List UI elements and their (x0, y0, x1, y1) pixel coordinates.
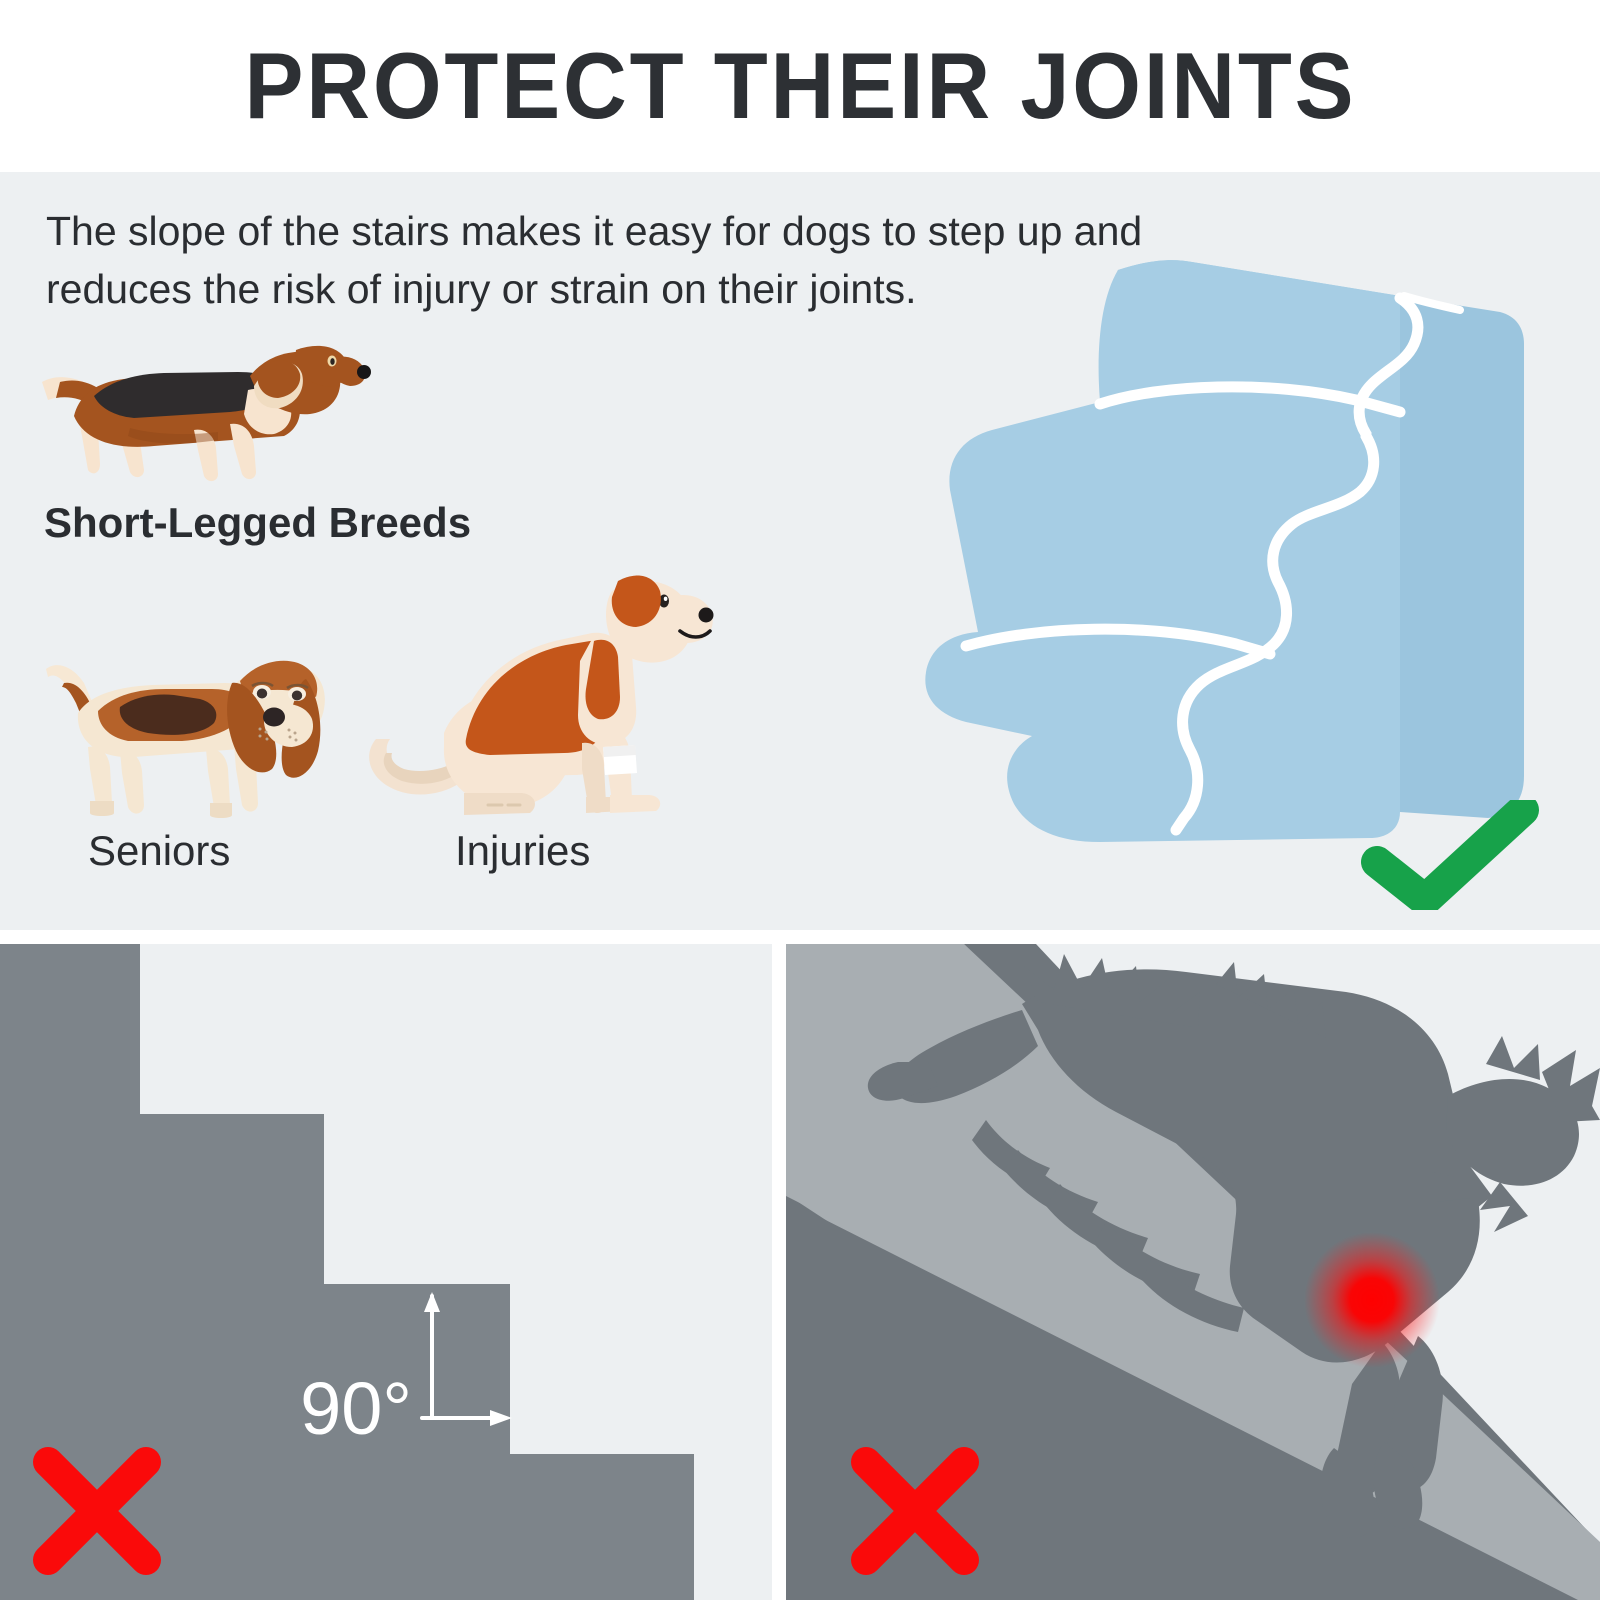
dog-label-injuries: Injuries (455, 827, 590, 875)
dachshund-dog-illustration (34, 324, 384, 484)
angle-label: 90° (300, 1367, 412, 1450)
sitting-dog-with-bandage-illustration (360, 547, 730, 827)
blue-three-step-pet-stairs-illustration (800, 252, 1540, 852)
red-x-icon (24, 1438, 170, 1584)
page-title: PROTECT THEIR JOINTS (244, 39, 1356, 133)
benefits-panel: The slope of the stairs makes it easy fo… (0, 172, 1600, 930)
steep-stairs-panel: 90° (0, 944, 772, 1600)
basset-hound-dog-illustration (34, 627, 344, 822)
title-bar: PROTECT THEIR JOINTS (0, 0, 1600, 172)
dog-label-seniors: Seniors (88, 827, 230, 875)
red-x-icon (842, 1438, 988, 1584)
red-pain-glow-icon (1304, 1232, 1440, 1368)
dog-label-short-legged-breeds: Short-Legged Breeds (44, 499, 471, 547)
green-checkmark-icon (1355, 800, 1545, 910)
steep-ramp-panel (786, 944, 1600, 1600)
